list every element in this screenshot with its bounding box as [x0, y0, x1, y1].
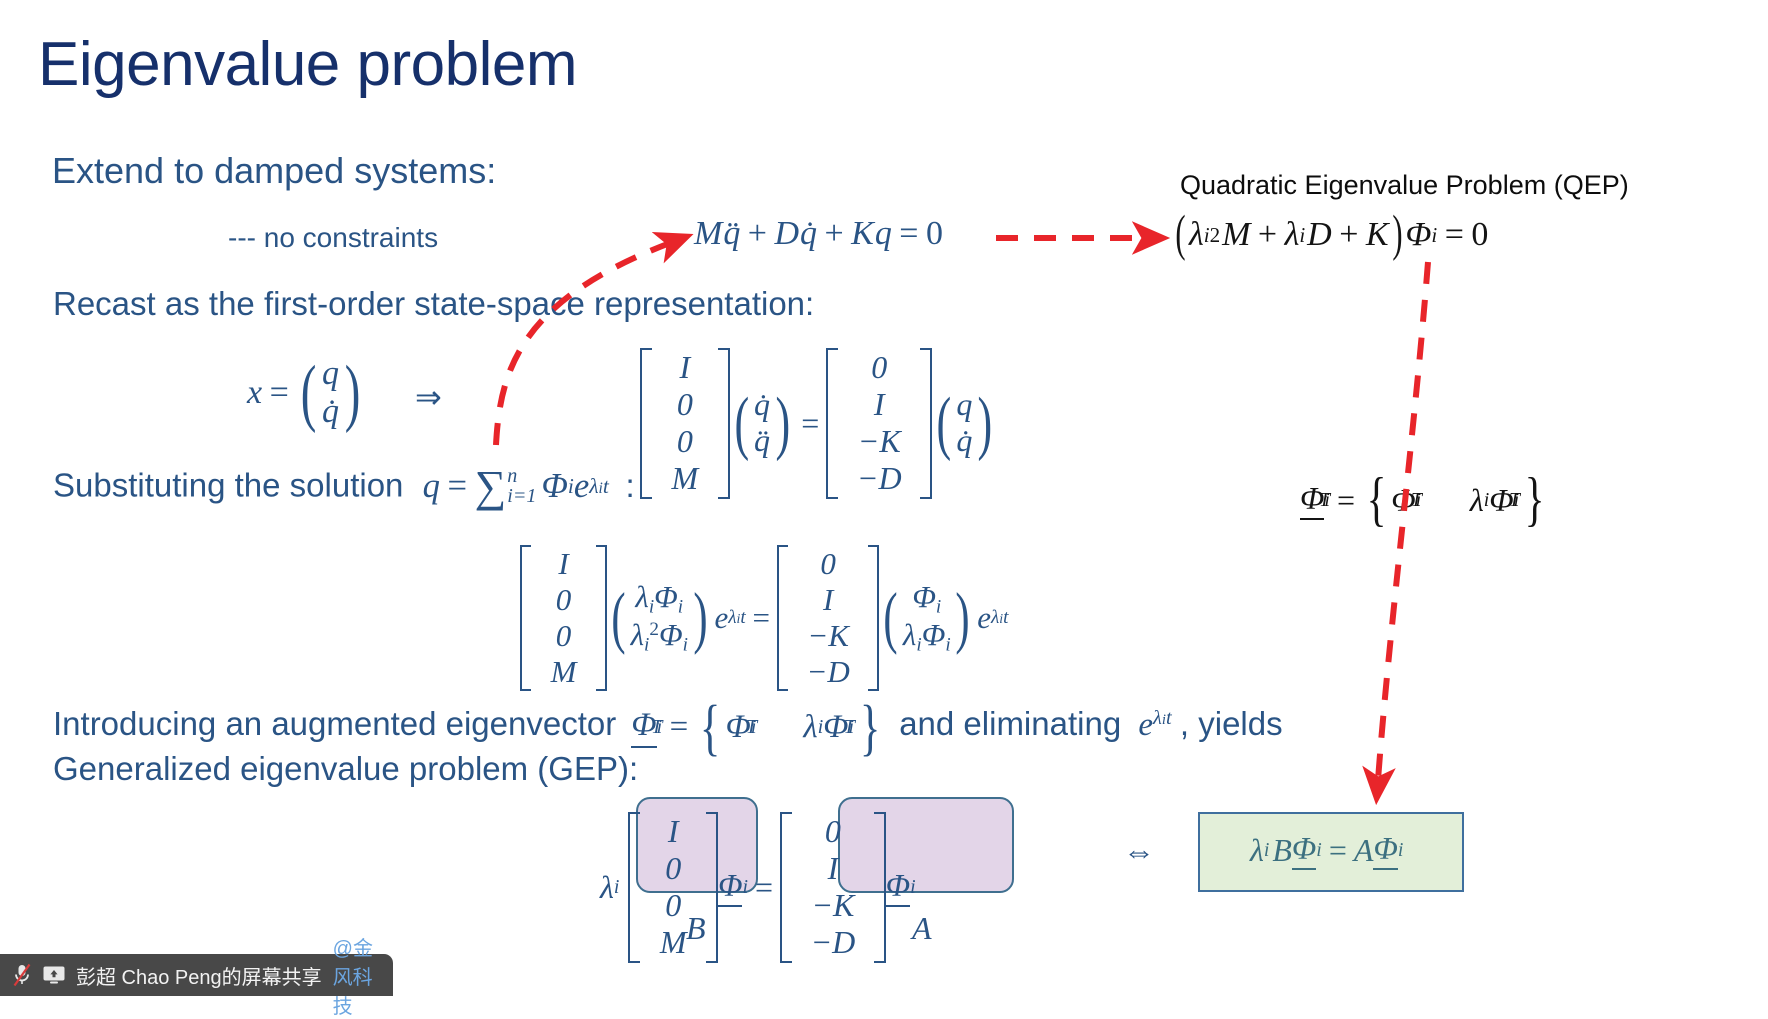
label-matrix-b: B [686, 910, 706, 947]
equation-gep: λi I0 0M Φi = 0I −K−D Φi [600, 812, 916, 963]
equation-gep-compact: λi B Φi = A Φi [1250, 830, 1403, 870]
equation-of-motion: Mq̈̈ + Dq̇ + Kq = 0 [694, 215, 943, 253]
page-title: Eigenvalue problem [38, 32, 577, 97]
equation-state-space: I0 0M ( q̇q̈̈ ) = 0I −K−D ( qq̇ ) [640, 348, 997, 507]
qep-label: Quadratic Eigenvalue Problem (QEP) [1180, 170, 1629, 201]
taskbar-org: @金风科技 [333, 932, 379, 1019]
taskbar-presenter-name: 彭超 Chao Peng的屏幕共享 [76, 961, 322, 990]
equation-exp-term: eλit [1138, 707, 1180, 743]
slide-canvas: Eigenvalue problem Extend to damped syst… [0, 0, 1768, 996]
screen-share-taskbar[interactable]: 彭超 Chao Peng的屏幕共享 @金风科技 [0, 954, 393, 996]
text-introducing-suffix: , yields [1180, 705, 1283, 742]
implies-symbol: ⇒ [415, 378, 442, 416]
screen-share-icon[interactable] [43, 966, 65, 984]
text-gep-line: Generalized eigenvalue problem (GEP): [53, 750, 638, 789]
microphone-muted-icon[interactable] [12, 963, 32, 987]
text-substituting-prefix: Substituting the solution [53, 467, 403, 504]
text-introducing-mid: and eliminating [899, 705, 1121, 742]
equation-state-vector-def: x= ( qq̇ ) [247, 355, 365, 431]
text-substituting: Substituting the solution q= ∑ n i=1 Φi … [53, 460, 635, 512]
label-matrix-a: A [912, 910, 932, 947]
text-extend-damped: Extend to damped systems: [52, 150, 496, 192]
text-introducing-prefix: Introducing an augmented eigenvector [53, 705, 616, 742]
text-introducing: Introducing an augmented eigenvector ΦiT… [53, 705, 1283, 748]
equivalence-symbol: ⇔ [1123, 833, 1155, 870]
equation-solution: q= ∑ n i=1 Φi eλit [413, 467, 618, 505]
qep-equation: ( λi2M + λiD + K ) Φi = 0 [1172, 216, 1488, 259]
equation-substituted: I0 0M ( λiΦi λi2Φi ) eλit = 0I −K−D ( Φi [520, 545, 1008, 699]
equation-augmented-right: ΦiT = { ΦiT λiΦiT } [1300, 480, 1549, 520]
text-recast: Recast as the first-order state-space re… [53, 285, 814, 324]
equation-augmented-inline: ΦiT = { ΦiT λiΦiT } [625, 707, 899, 743]
text-substituting-suffix: : [625, 467, 634, 504]
text-no-constraints: --- no constraints [228, 222, 438, 254]
